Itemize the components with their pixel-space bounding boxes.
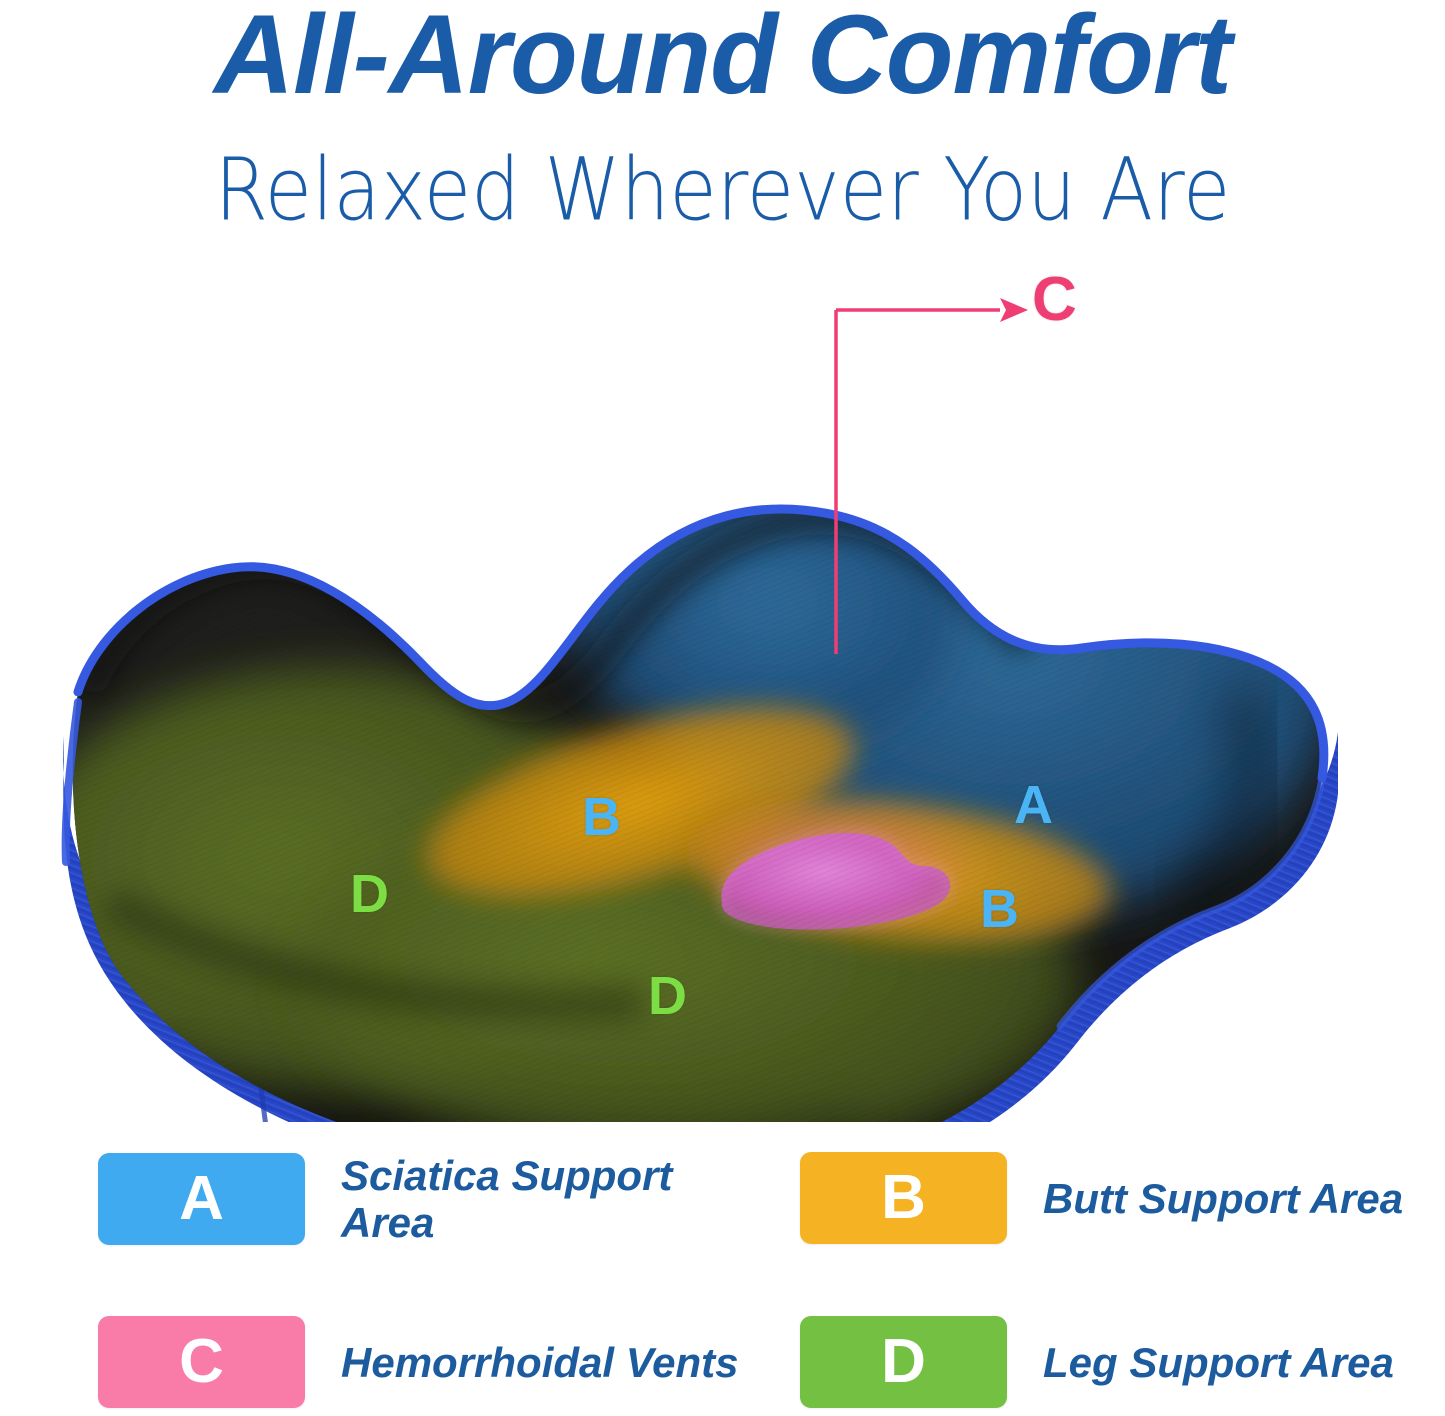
legend-item-c[interactable]: C Hemorrhoidal Vents xyxy=(98,1316,739,1408)
cushion-label-b-upper: B xyxy=(582,790,621,844)
legend-swatch-letter-a: A xyxy=(179,1168,224,1230)
cushion-label-d-left: D xyxy=(350,867,389,921)
legend-label-b: Butt Support Area xyxy=(1043,1175,1403,1222)
header-block: All-Around Comfort Relaxed Wherever You … xyxy=(0,0,1445,262)
callout-arrowhead xyxy=(1000,298,1028,322)
cushion-label-b-lower: B xyxy=(980,882,1019,936)
page-title: All-Around Comfort xyxy=(7,0,1438,114)
legend-swatch-a: A xyxy=(98,1153,305,1245)
cushion-label-d-lower: D xyxy=(648,969,687,1023)
legend-item-a[interactable]: A Sciatica Support Area xyxy=(98,1152,771,1246)
legend-swatch-c: C xyxy=(98,1316,305,1408)
legend-swatch-b: B xyxy=(800,1152,1007,1244)
legend-item-b[interactable]: B Butt Support Area xyxy=(800,1152,1403,1244)
cushion-label-c: C xyxy=(1032,273,1077,327)
legend-swatch-letter-d: D xyxy=(881,1331,926,1393)
legend-label-d: Leg Support Area xyxy=(1043,1339,1394,1386)
legend-label-c: Hemorrhoidal Vents xyxy=(341,1339,739,1386)
product-illustration: A B B D D C xyxy=(0,262,1445,1122)
page-subtitle: Relaxed Wherever You Are xyxy=(0,140,1445,243)
cushion-label-a: A xyxy=(1014,778,1053,832)
cushion-top-surface xyxy=(0,462,1445,1122)
legend-swatch-letter-b: B xyxy=(881,1167,926,1229)
legend-label-a: Sciatica Support Area xyxy=(341,1152,771,1246)
seat-cushion-graphic xyxy=(0,262,1445,1122)
legend-swatch-letter-c: C xyxy=(179,1331,224,1393)
legend-swatch-d: D xyxy=(800,1316,1007,1408)
legend: A Sciatica Support Area B Butt Support A… xyxy=(0,1136,1445,1416)
legend-item-d[interactable]: D Leg Support Area xyxy=(800,1316,1394,1408)
